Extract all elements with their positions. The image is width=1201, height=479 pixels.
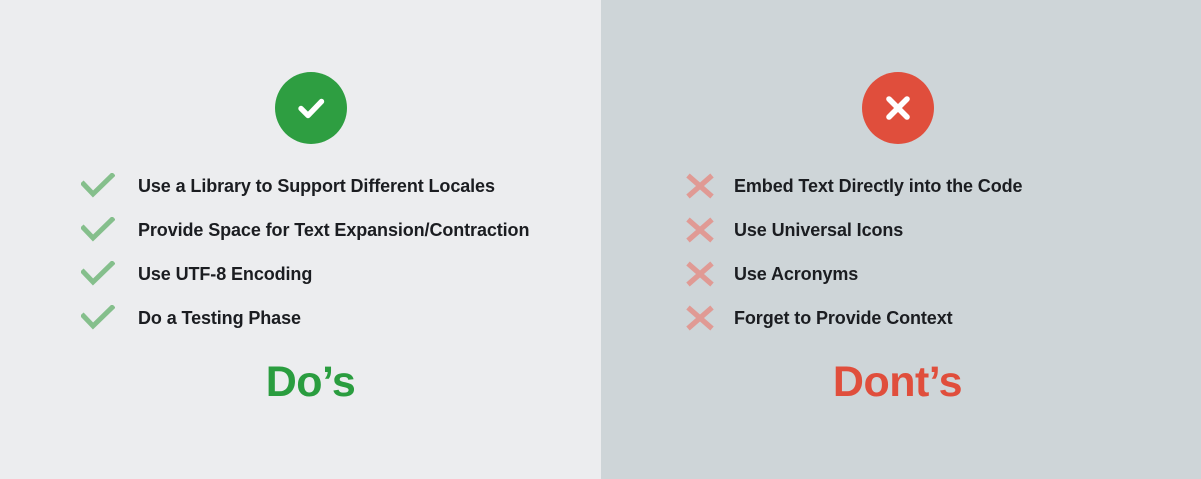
donts-list: Embed Text Directly into the Code Use Un… [601, 164, 1201, 340]
list-item-label: Use UTF-8 Encoding [138, 264, 312, 285]
list-item: Use Acronyms [601, 252, 1201, 296]
list-item: Use Universal Icons [601, 208, 1201, 252]
list-item-label: Use a Library to Support Different Local… [138, 176, 495, 197]
check-icon [80, 171, 116, 201]
x-icon [682, 303, 718, 333]
list-item: Embed Text Directly into the Code [601, 164, 1201, 208]
x-circle-icon [862, 72, 934, 144]
list-item: Use UTF-8 Encoding [0, 252, 601, 296]
dos-and-donts-board: Use a Library to Support Different Local… [0, 0, 1201, 479]
donts-panel: Embed Text Directly into the Code Use Un… [601, 0, 1201, 479]
x-icon [682, 215, 718, 245]
list-item-label: Use Universal Icons [734, 220, 903, 241]
list-item: Do a Testing Phase [0, 296, 601, 340]
x-icon [682, 259, 718, 289]
list-item-label: Use Acronyms [734, 264, 858, 285]
list-item-label: Do a Testing Phase [138, 308, 301, 329]
list-item-label: Provide Space for Text Expansion/Contrac… [138, 220, 529, 241]
list-item: Use a Library to Support Different Local… [0, 164, 601, 208]
x-icon [682, 171, 718, 201]
list-item-label: Embed Text Directly into the Code [734, 176, 1022, 197]
dos-panel: Use a Library to Support Different Local… [0, 0, 601, 479]
check-icon [80, 303, 116, 333]
list-item: Provide Space for Text Expansion/Contrac… [0, 208, 601, 252]
donts-title: Dont’s [297, 357, 1201, 407]
list-item: Forget to Provide Context [601, 296, 1201, 340]
check-icon [80, 259, 116, 289]
check-circle-icon [275, 72, 347, 144]
check-icon [80, 215, 116, 245]
list-item-label: Forget to Provide Context [734, 308, 953, 329]
dos-list: Use a Library to Support Different Local… [0, 164, 601, 340]
